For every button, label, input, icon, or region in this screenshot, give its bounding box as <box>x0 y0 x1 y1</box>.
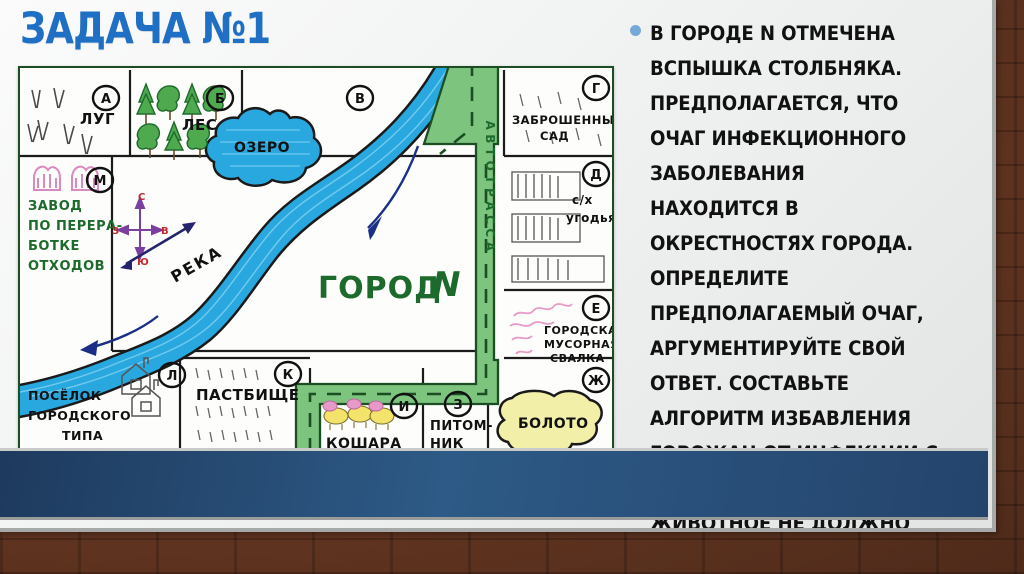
plant-label-line1: ЗАВОД <box>28 199 82 214</box>
svg-text:И: И <box>399 400 410 415</box>
lake-label: ОЗЕРО <box>234 140 290 156</box>
svg-text:Д: Д <box>590 168 602 183</box>
meadow-label: ЛУГ <box>80 110 115 128</box>
township-label-line1: ПОСЁЛОК <box>28 388 102 403</box>
slide-panel: ЗАДАЧА №1 В ГОРОДЕ N ОТМЕЧЕНА ВСПЫШКА СТ… <box>0 0 996 532</box>
page-title: ЗАДАЧА №1 <box>20 4 270 54</box>
plant-label-line3: БОТКЕ <box>28 239 80 254</box>
dump-label-line2: МУСОРНАЯ <box>544 338 612 351</box>
farmland-label-line2: угодья <box>566 211 612 225</box>
forest-label: ЛЕС <box>182 116 217 134</box>
kennel-label-line1: ПИТОМ- <box>430 419 493 434</box>
lake-shape: ОЗЕРО <box>206 108 321 186</box>
pasture-label: ПАСТБИЩЕ <box>196 386 300 404</box>
city-letter: N <box>432 265 460 305</box>
compass-east-label: В <box>161 226 169 237</box>
svg-text:Б: Б <box>215 92 225 107</box>
svg-text:Е: Е <box>592 302 601 317</box>
dump-label-line3: СВАЛКА <box>550 352 605 365</box>
garden-label-line1: ЗАБРОШЕННЫЙ <box>512 112 612 127</box>
compass-south-label: Ю <box>137 257 149 268</box>
compass-north-label: С <box>138 192 145 203</box>
swamp-label: БОЛОТО <box>518 416 589 432</box>
svg-text:А: А <box>101 92 111 107</box>
svg-text:М: М <box>94 174 107 189</box>
accent-band <box>0 448 988 520</box>
township-label-line3: ТИПА <box>62 428 103 443</box>
plant-label-line4: ОТХОДОВ <box>28 259 105 274</box>
plant-label-line2: ПО ПЕРЕРА- <box>28 219 123 234</box>
city-label-group: ГОРОД N <box>318 265 460 306</box>
svg-text:Л: Л <box>167 369 178 384</box>
highway-label: АВТОТРАССА <box>483 121 497 256</box>
bullet-dot-icon <box>630 25 641 36</box>
svg-text:В: В <box>355 92 365 107</box>
map-figure: АВТОТРАССА ОЗЕРО БОЛОТО <box>18 66 614 460</box>
township-label-line2: ГОРОДСКОГО <box>28 408 131 423</box>
farmland-label-line1: с/х <box>572 193 593 207</box>
svg-text:З: З <box>453 398 462 413</box>
dump-label-line1: ГОРОДСКАЯ <box>544 324 612 337</box>
svg-text:Г: Г <box>592 82 600 97</box>
svg-text:К: К <box>283 368 294 383</box>
city-label: ГОРОД <box>318 271 442 306</box>
compass-west-label: З <box>112 226 119 237</box>
garden-label-line2: САД <box>540 129 569 143</box>
svg-text:Ж: Ж <box>588 374 604 389</box>
